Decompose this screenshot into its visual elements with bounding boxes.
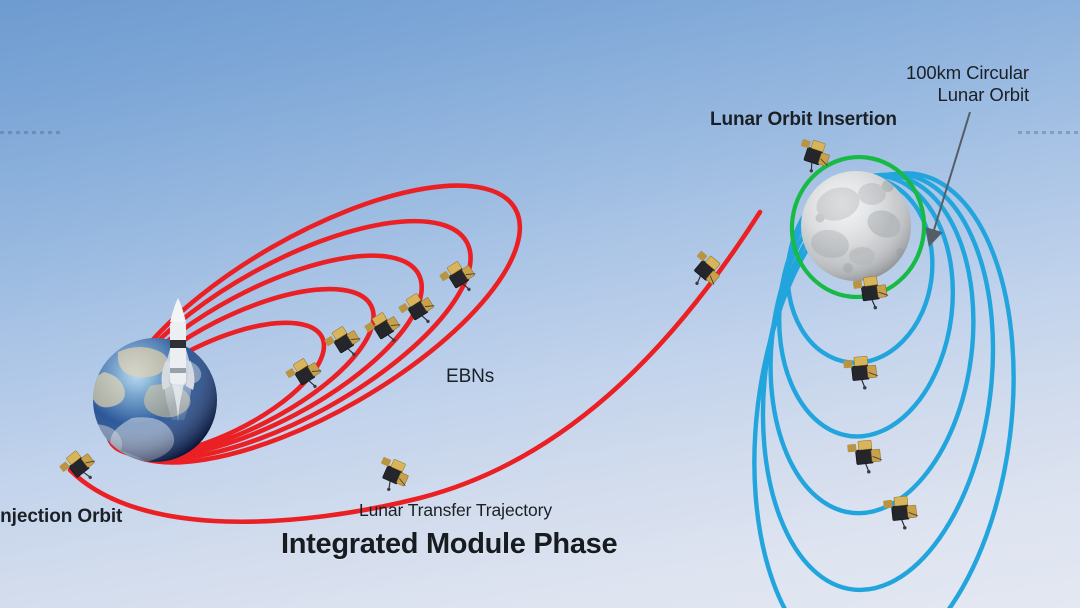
label-lunar-orbit-insertion: Lunar Orbit Insertion xyxy=(710,109,897,131)
label-ebns: EBNs xyxy=(446,366,494,388)
moon xyxy=(801,171,911,281)
diagram-canvas: Injection Orbit EBNs Lunar Transfer Traj… xyxy=(0,0,1080,608)
label-circular-lunar-orbit-line1: 100km Circular xyxy=(906,62,1029,83)
spacecraft xyxy=(883,495,919,531)
diagram-title: Integrated Module Phase xyxy=(281,528,617,561)
label-lunar-transfer-trajectory: Lunar Transfer Trajectory xyxy=(359,500,552,521)
spacecraft xyxy=(323,322,366,365)
spacecraft xyxy=(372,455,414,497)
label-injection-orbit: Injection Orbit xyxy=(0,506,122,528)
edge-marker-left xyxy=(0,131,62,134)
spacecraft xyxy=(363,308,406,351)
spacecraft xyxy=(847,439,883,475)
spacecraft xyxy=(794,137,834,177)
spacecraft xyxy=(58,445,102,489)
label-circular-lunar-orbit: 100km Circular Lunar Orbit xyxy=(906,62,1029,106)
label-circular-lunar-orbit-line2: Lunar Orbit xyxy=(906,84,1029,106)
edge-marker-right xyxy=(1018,131,1080,134)
earth xyxy=(81,338,217,485)
